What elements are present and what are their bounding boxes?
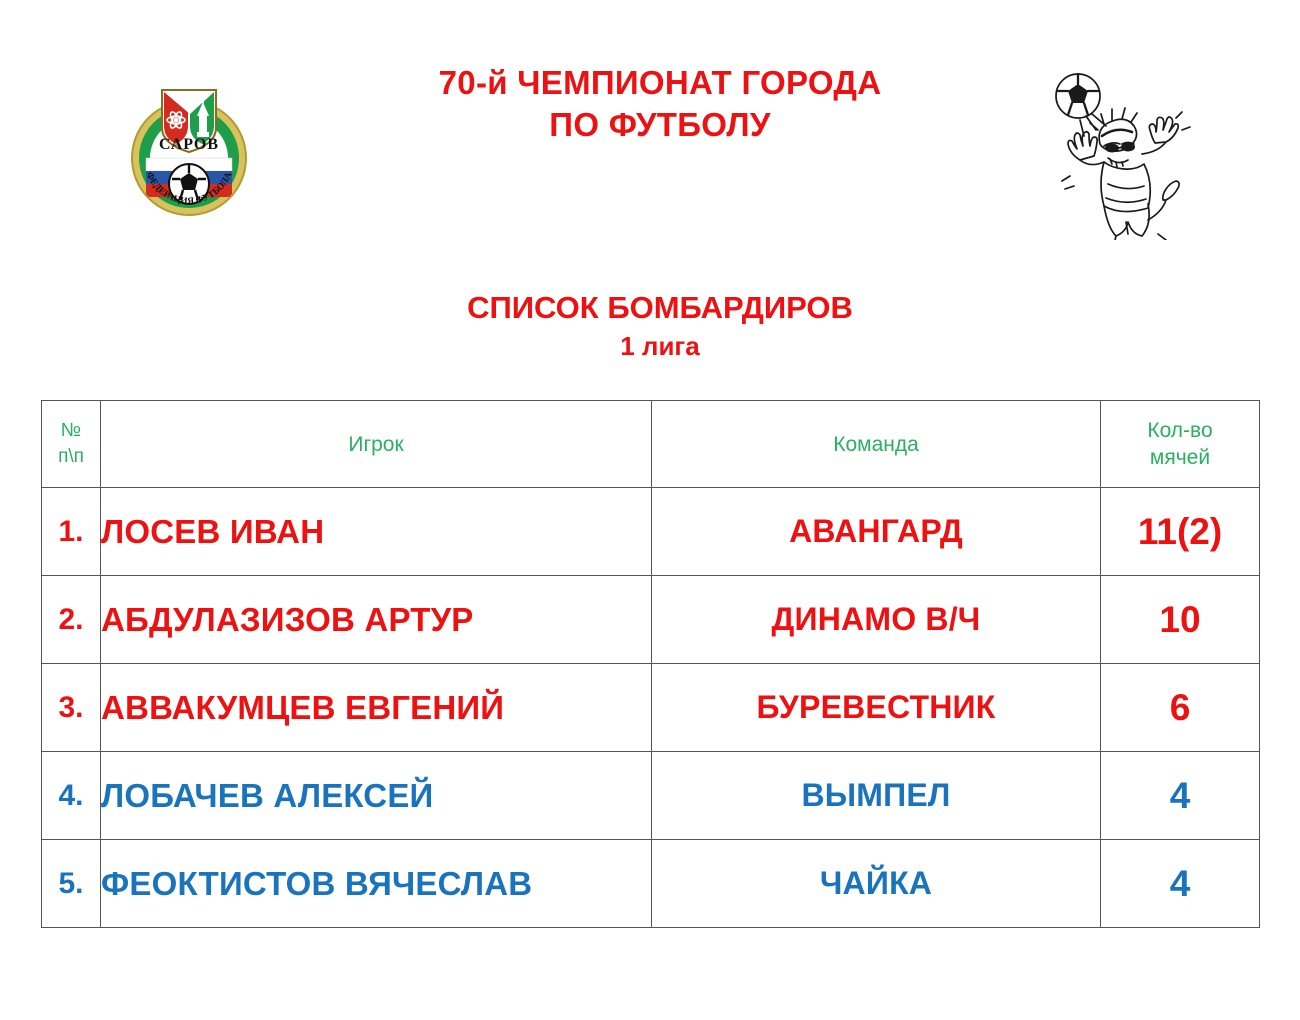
cell-player-name: ФЕОКТИСТОВ ВЯЧЕСЛАВ [101,840,652,928]
goalkeeper-diving-illustration [1030,58,1210,240]
subtitle-block: СПИСОК БОМБАРДИРОВ 1 лига [330,288,990,364]
cell-goal-count: 10 [1101,576,1260,664]
cell-player-name: АБДУЛАЗИЗОВ АРТУР [101,576,652,664]
subtitle-main: СПИСОК БОМБАРДИРОВ [330,288,990,328]
column-header-number: № п\п [42,401,101,488]
page-title: 70-й ЧЕМПИОНАТ ГОРОДА ПО ФУТБОЛУ [330,62,990,146]
cell-rank: 2. [42,576,101,664]
cell-goal-count: 6 [1101,664,1260,752]
table-row: 1.ЛОСЕВ ИВАНАВАНГАРД11(2) [42,488,1260,576]
cell-rank: 1. [42,488,101,576]
cell-rank: 3. [42,664,101,752]
cell-goal-count: 11(2) [1101,488,1260,576]
cell-team-name: АВАНГАРД [652,488,1101,576]
column-header-team: Команда [652,401,1101,488]
column-header-team-label: Команда [652,431,1100,458]
title-line-2: ПО ФУТБОЛУ [330,104,990,146]
scorers-table-wrap: № п\п Игрок Команда Кол-во мячей 1.ЛОСЕВ… [41,400,1259,928]
svg-text:САРОВ: САРОВ [159,136,219,153]
scorers-table: № п\п Игрок Команда Кол-во мячей 1.ЛОСЕВ… [41,400,1260,928]
subtitle-league: 1 лига [330,328,990,364]
column-header-goals: Кол-во мячей [1101,401,1260,488]
cell-goal-count: 4 [1101,840,1260,928]
cell-team-name: ЧАЙКА [652,840,1101,928]
title-line-1: 70-й ЧЕМПИОНАТ ГОРОДА [330,62,990,104]
column-header-player: Игрок [101,401,652,488]
table-body: 1.ЛОСЕВ ИВАНАВАНГАРД11(2)2.АБДУЛАЗИЗОВ А… [42,488,1260,928]
column-header-goals-line1: Кол-во [1101,417,1259,444]
cell-team-name: БУРЕВЕСТНИК [652,664,1101,752]
cell-team-name: ДИНАМО В/Ч [652,576,1101,664]
column-header-player-label: Игрок [101,431,651,458]
page-header: САРОВ ФЕДЕРАЦИЯ ФУТБОЛА 70-й ЧЕМПИОНАТ Г… [0,0,1300,250]
table-row: 3.АВВАКУМЦЕВ ЕВГЕНИЙБУРЕВЕСТНИК6 [42,664,1260,752]
cell-rank: 4. [42,752,101,840]
cell-rank: 5. [42,840,101,928]
cell-goal-count: 4 [1101,752,1260,840]
cell-player-name: АВВАКУМЦЕВ ЕВГЕНИЙ [101,664,652,752]
cell-player-name: ЛОСЕВ ИВАН [101,488,652,576]
table-header: № п\п Игрок Команда Кол-во мячей [42,401,1260,488]
column-header-number-line2: п\п [42,444,100,470]
column-header-number-line1: № [42,418,100,444]
table-row: 4.ЛОБАЧЕВ АЛЕКСЕЙВЫМПЕЛ4 [42,752,1260,840]
sarov-football-federation-logo: САРОВ ФЕДЕРАЦИЯ ФУТБОЛА [128,76,250,220]
table-row: 2.АБДУЛАЗИЗОВ АРТУРДИНАМО В/Ч10 [42,576,1260,664]
cell-team-name: ВЫМПЕЛ [652,752,1101,840]
column-header-goals-line2: мячей [1101,444,1259,471]
table-header-row: № п\п Игрок Команда Кол-во мячей [42,401,1260,488]
table-row: 5.ФЕОКТИСТОВ ВЯЧЕСЛАВЧАЙКА4 [42,840,1260,928]
cell-player-name: ЛОБАЧЕВ АЛЕКСЕЙ [101,752,652,840]
